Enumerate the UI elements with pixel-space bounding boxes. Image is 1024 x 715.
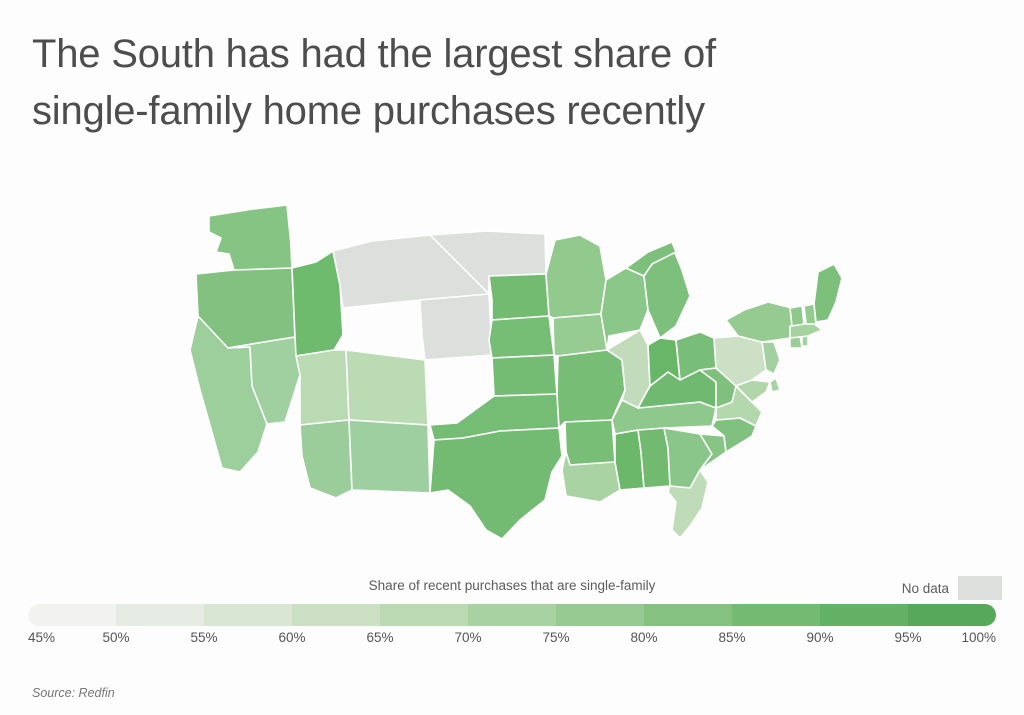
legend-caption: Share of recent purchases that are singl…: [0, 578, 1024, 593]
legend-band-6: [556, 604, 644, 626]
legend-band-4: [380, 604, 468, 626]
page-title: The South has had the largest share of s…: [32, 26, 932, 140]
legend-band-10: [908, 604, 996, 626]
legend-tick: 45%: [28, 630, 55, 645]
legend-tick: 60%: [278, 630, 305, 645]
legend-band-1: [116, 604, 204, 626]
legend-tick: 80%: [630, 630, 657, 645]
no-data-label: No data: [902, 581, 949, 596]
legend-band-8: [732, 604, 820, 626]
state-ia: Iowa — 78%: [553, 314, 607, 356]
legend-tick: 95%: [894, 630, 921, 645]
us-map-svg: Washington — 82%Oregon — 83%California —…: [0, 190, 1024, 570]
legend-tick: 75%: [542, 630, 569, 645]
legend-band-2: [204, 604, 292, 626]
states-layer: Washington — 82%Oregon — 83%California —…: [190, 205, 842, 570]
legend-tick-labels: 45%50%55%60%65%70%75%80%85%90%95%100%: [28, 630, 996, 650]
state-vt: Vermont — 80%: [790, 306, 804, 326]
state-az: Arizona — 78%: [300, 420, 352, 498]
state-ny: New York — 79%: [726, 302, 800, 342]
no-data-legend: No data: [902, 576, 1002, 600]
legend-tick: 85%: [718, 630, 745, 645]
legend-tick: 70%: [454, 630, 481, 645]
legend-tick: 65%: [366, 630, 393, 645]
legend-band-9: [820, 604, 908, 626]
state-wa: Washington — 82%: [209, 205, 292, 276]
legend-tick: 100%: [961, 630, 996, 645]
legend-band-3: [292, 604, 380, 626]
legend-tick: 90%: [806, 630, 833, 645]
legend-band-0: [28, 604, 116, 626]
legend-band-7: [644, 604, 732, 626]
choropleth-map: Washington — 82%Oregon — 83%California —…: [0, 190, 1024, 570]
state-ut: Utah — 70%: [296, 350, 349, 425]
state-ar: Arkansas — 86%: [565, 420, 615, 465]
legend-tick: 50%: [102, 630, 129, 645]
state-sd: South Dakota — 88%: [489, 274, 549, 320]
legend-band-5: [468, 604, 556, 626]
state-wy: Wyoming — No data: [420, 294, 492, 360]
legend-tick: 55%: [190, 630, 217, 645]
state-ri: Rhode Island — 76%: [802, 336, 808, 346]
state-ne: Nebraska — 87%: [489, 316, 554, 358]
state-ks: Kansas — 87%: [492, 355, 557, 396]
state-co: Colorado — 70%: [346, 350, 428, 425]
no-data-swatch: [958, 576, 1002, 600]
state-me: Maine — 84%: [814, 264, 842, 322]
state-mn: Minnesota — 79%: [546, 235, 606, 318]
state-de: Delaware — 74%: [770, 378, 780, 392]
legend-color-bar: [28, 604, 996, 626]
source-note: Source: Redfin: [32, 686, 115, 700]
state-nm: New Mexico — 77%: [349, 420, 430, 493]
state-tx: Texas — 87%: [430, 428, 562, 539]
map-legend: Share of recent purchases that are singl…: [0, 578, 1024, 648]
